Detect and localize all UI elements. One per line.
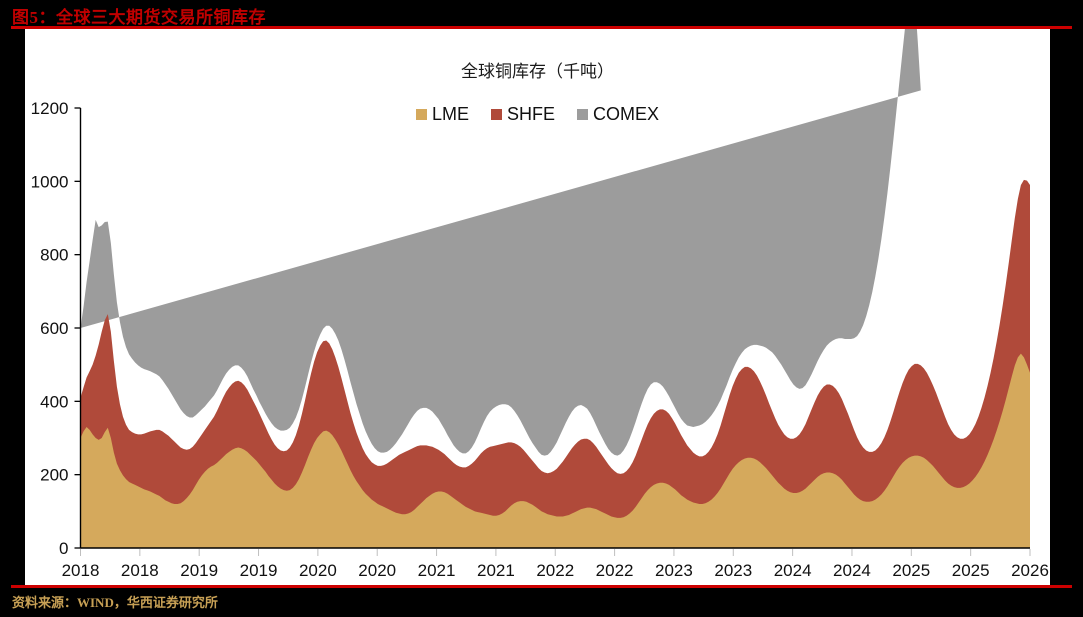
x-tick-label: 2023 [655,561,693,580]
x-tick-label: 2021 [418,561,456,580]
x-tick-label: 2022 [536,561,574,580]
figure-title: 图5：全球三大期货交易所铜库存 [12,3,266,28]
y-tick-label: 0 [59,539,68,558]
y-tick-labels: 020040060080010001200 [31,99,69,558]
area-series-comex [81,29,921,456]
x-tick-label: 2020 [358,561,396,580]
x-tick-label: 2019 [240,561,278,580]
x-tick-label: 2025 [892,561,930,580]
x-tick-label: 2024 [833,561,871,580]
y-tick-label: 400 [40,392,68,411]
y-tick-label: 1200 [31,99,69,118]
chart-panel: 全球铜库存（千吨） LME SHFE COMEX 020040060080010… [25,29,1050,585]
x-tick-label: 2025 [952,561,990,580]
x-tick-label: 2019 [180,561,218,580]
y-tick-label: 600 [40,319,68,338]
y-tick-label: 1000 [31,172,69,191]
x-tick-label: 2023 [714,561,752,580]
x-tick-label: 2018 [62,561,100,580]
area-series-group [81,29,1031,548]
x-tick-label: 2021 [477,561,515,580]
x-tick-label: 2026 [1011,561,1049,580]
x-tick-label: 2022 [596,561,634,580]
stacked-area-plot: 020040060080010001200 201820182019201920… [25,29,1050,585]
x-tick-labels: 2018201820192019202020202021202120222022… [62,561,1049,580]
x-tick-label: 2024 [774,561,812,580]
source-note: 资料来源：WIND，华西证券研究所 [12,592,218,611]
figure-container: 图5：全球三大期货交易所铜库存 全球铜库存（千吨） LME SHFE COMEX… [0,0,1083,617]
x-tick-label: 2018 [121,561,159,580]
x-tick-label: 2020 [299,561,337,580]
y-tick-label: 200 [40,466,68,485]
y-tick-label: 800 [40,246,68,265]
